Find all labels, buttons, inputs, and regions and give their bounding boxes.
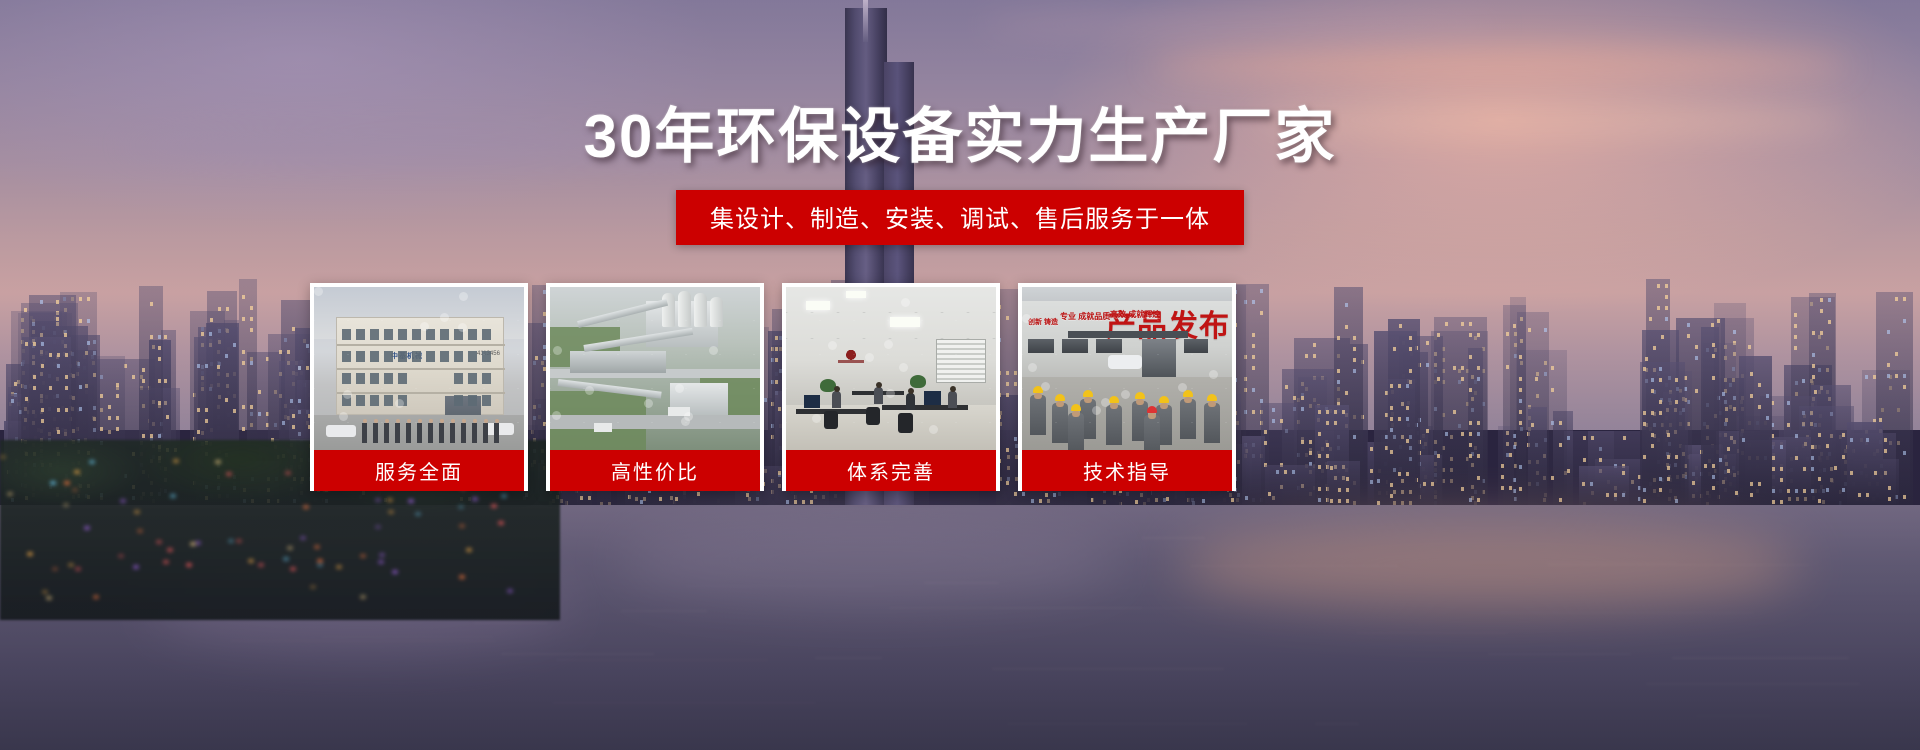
photo-building-window — [412, 351, 421, 362]
photo-building-window — [468, 329, 477, 340]
staff-member — [428, 423, 433, 443]
office-window-blinds — [936, 339, 986, 383]
parked-car — [484, 423, 514, 435]
yard-vehicle — [1108, 355, 1142, 369]
photo-building-window — [468, 351, 477, 362]
photo-building-window — [482, 351, 491, 362]
staff-member — [384, 423, 389, 443]
watermark-dot — [339, 412, 348, 421]
feature-card[interactable]: 产品发布 创新 铸造 专业 成就品质 高效 成就辉煌 技术指导 — [1018, 283, 1236, 491]
watermark-dot — [899, 363, 908, 372]
watermark-dot — [886, 389, 895, 398]
parked-car — [326, 425, 356, 437]
factory-worker — [1030, 395, 1046, 435]
watermark-dot — [1178, 383, 1187, 392]
photo-building-window — [468, 373, 477, 384]
staff-member — [483, 423, 488, 443]
photo-building-window — [482, 373, 491, 384]
watermark-dot — [1028, 363, 1037, 372]
factory-worker — [1204, 403, 1220, 443]
watermark-dot — [644, 399, 653, 408]
staff-member — [494, 423, 499, 443]
photo-building-window — [342, 329, 351, 340]
card-photo-office-interior — [786, 287, 996, 450]
watermark-dot — [458, 323, 467, 332]
factory-worker — [1052, 403, 1068, 443]
photo-building-window — [342, 373, 351, 384]
photo-building-window — [454, 351, 463, 362]
photo-building-window — [356, 329, 365, 340]
watermark-dot — [865, 353, 874, 362]
photo-building-window — [370, 351, 379, 362]
photo-building-window — [356, 351, 365, 362]
photo-building-window — [440, 351, 449, 362]
banner-content: 30年环保设备实力生产厂家 集设计、制造、安装、调试、售后服务于一体 中基机械 … — [0, 0, 1920, 750]
watermark-dot — [901, 298, 910, 307]
watermark-dot — [552, 411, 561, 420]
card-label: 体系完善 — [786, 450, 996, 491]
feature-card[interactable]: 中基机械 4113456 服务全面 — [310, 283, 528, 491]
watermark-dot — [884, 340, 893, 349]
card-label: 高性价比 — [550, 450, 760, 491]
watermark-dot — [343, 390, 352, 399]
photo-building-window — [412, 329, 421, 340]
photo-building-window — [384, 329, 393, 340]
photo-building-window — [440, 329, 449, 340]
watermark-dot — [440, 313, 449, 322]
staff-member — [472, 423, 477, 443]
watermark-dot — [709, 346, 718, 355]
card-photo-company-building: 中基机械 4113456 — [314, 287, 524, 450]
watermark-dot — [1041, 382, 1050, 391]
watermark-dot — [459, 292, 468, 301]
photo-building-window — [384, 373, 393, 384]
feature-card-list: 中基机械 4113456 服务全面 — [310, 283, 1260, 491]
watermark-dot — [675, 384, 684, 393]
factory-worker — [1106, 405, 1122, 445]
watermark-dot — [1101, 398, 1110, 407]
watermark-dot — [1022, 314, 1031, 323]
card-photo-industrial-plant — [550, 287, 760, 450]
staff-member — [406, 423, 411, 443]
staff-member — [450, 423, 455, 443]
factory-worker — [1068, 413, 1084, 450]
feature-card[interactable]: 体系完善 — [782, 283, 1000, 491]
factory-worker — [1144, 415, 1160, 450]
banner-headline: 30年环保设备实力生产厂家 — [0, 105, 1920, 168]
feature-card[interactable]: 高性价比 — [546, 283, 764, 491]
watermark-dot — [553, 346, 562, 355]
photo-building-window — [398, 373, 407, 384]
wall-slogan: 创新 铸造 — [1028, 317, 1058, 327]
photo-building-window — [482, 395, 491, 406]
card-label: 技术指导 — [1022, 450, 1232, 491]
photo-building-window — [370, 373, 379, 384]
photo-building-window — [356, 373, 365, 384]
photo-building-window — [454, 395, 463, 406]
factory-worker — [1180, 399, 1196, 439]
staff-member — [439, 423, 444, 443]
card-label: 服务全面 — [314, 450, 524, 491]
wall-logo — [838, 345, 864, 367]
wall-slogan: 专业 成就品质 — [1060, 311, 1110, 322]
photo-building-window — [384, 395, 393, 406]
photo-building-window — [426, 329, 435, 340]
photo-building-window — [468, 395, 477, 406]
staff-member — [395, 423, 400, 443]
watermark-dot — [314, 287, 323, 296]
hero-banner: 30年环保设备实力生产厂家 集设计、制造、安装、调试、售后服务于一体 中基机械 … — [0, 0, 1920, 750]
photo-building-window — [454, 373, 463, 384]
photo-building-window — [384, 351, 393, 362]
staff-member — [373, 423, 378, 443]
photo-building-window — [398, 329, 407, 340]
photo-building-window — [426, 351, 435, 362]
photo-building-window — [342, 351, 351, 362]
photo-building-window — [356, 395, 365, 406]
watermark-dot — [828, 341, 837, 350]
photo-building-window — [370, 395, 379, 406]
photo-building-window — [398, 351, 407, 362]
watermark-dot — [1092, 406, 1101, 415]
photo-building-window — [482, 329, 491, 340]
card-photo-factory-workers: 产品发布 创新 铸造 专业 成就品质 高效 成就辉煌 — [1022, 287, 1232, 450]
staff-member — [417, 423, 422, 443]
photo-building-window — [370, 329, 379, 340]
staff-member — [362, 423, 367, 443]
staff-member — [461, 423, 466, 443]
factory-door — [1142, 339, 1176, 379]
wall-slogan: 高效 成就辉煌 — [1110, 309, 1160, 320]
banner-subtitle-badge: 集设计、制造、安装、调试、售后服务于一体 — [676, 190, 1244, 245]
